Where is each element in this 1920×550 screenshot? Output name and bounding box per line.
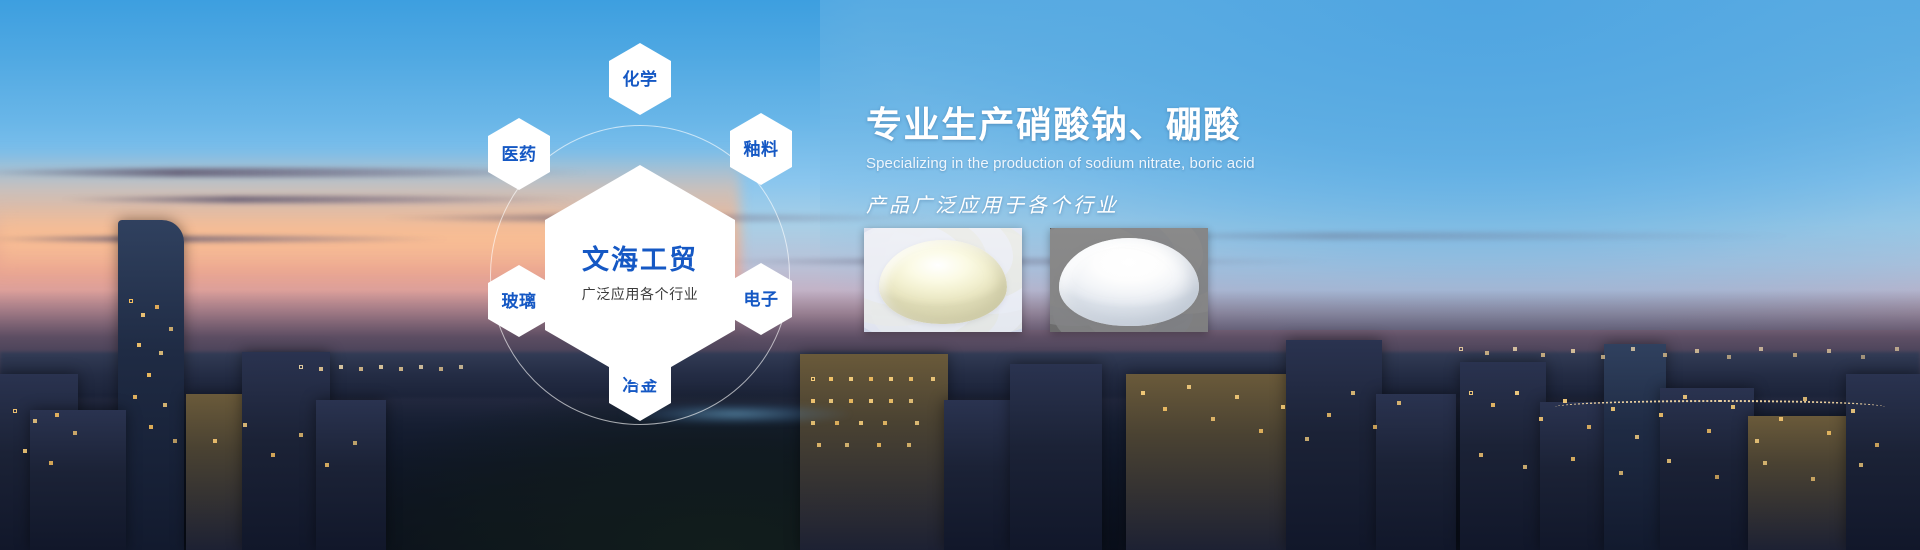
cloud-streak <box>0 236 450 242</box>
powder-grain-texture <box>879 240 1007 324</box>
city-lights <box>1470 392 1472 394</box>
bridge-cable <box>1555 400 1885 414</box>
company-tagline: 广泛应用各个行业 <box>582 284 699 304</box>
bridge <box>1555 392 1885 418</box>
banner-copy: 专业生产硝酸钠、硼酸 Specializing in the productio… <box>866 104 1586 219</box>
product-photo-boric-acid[interactable] <box>1050 228 1208 332</box>
building <box>1286 340 1382 550</box>
building <box>1460 362 1546 550</box>
building <box>1376 394 1456 550</box>
hex-node-label: 医药 <box>502 146 537 163</box>
hex-node-label: 电子 <box>744 291 779 308</box>
building <box>944 400 1018 550</box>
powder-pile <box>1059 238 1199 326</box>
hex-node-chemistry[interactable]: 化学 <box>609 43 671 115</box>
building <box>1126 374 1292 550</box>
hex-node-label: 玻璃 <box>502 293 537 310</box>
building-window-lights <box>130 300 132 302</box>
bridge-lights <box>300 366 302 368</box>
building <box>1540 402 1610 550</box>
building <box>1604 344 1666 550</box>
building <box>30 410 126 550</box>
hex-node-label: 化学 <box>623 71 658 88</box>
building <box>316 400 386 550</box>
industry-hexagon-diagram: 化学 医药 釉料 玻璃 电子 冶金 文海工贸 广泛应用各个行业 <box>400 0 880 550</box>
powder-pile <box>879 240 1007 324</box>
banner-tagline: 产品广泛应用于各个行业 <box>866 193 1586 219</box>
product-photo-sodium-nitrate[interactable] <box>864 228 1022 332</box>
hero-banner: 化学 医药 釉料 玻璃 电子 冶金 文海工贸 广泛应用各个行业 专业生产硝酸钠、… <box>0 0 1920 550</box>
hex-node-label: 釉料 <box>744 141 779 158</box>
banner-subheadline: Specializing in the production of sodium… <box>866 154 1586 174</box>
building <box>186 394 248 550</box>
building <box>1748 416 1852 550</box>
city-lights <box>14 410 16 412</box>
distant-shore-lights <box>1460 348 1462 350</box>
building <box>1010 364 1102 550</box>
company-name: 文海工贸 <box>582 246 698 276</box>
product-photo-gallery <box>864 228 1208 332</box>
banner-headline: 专业生产硝酸钠、硼酸 <box>866 104 1586 146</box>
skyscraper <box>118 220 184 550</box>
powder-grain-texture <box>1059 238 1199 326</box>
